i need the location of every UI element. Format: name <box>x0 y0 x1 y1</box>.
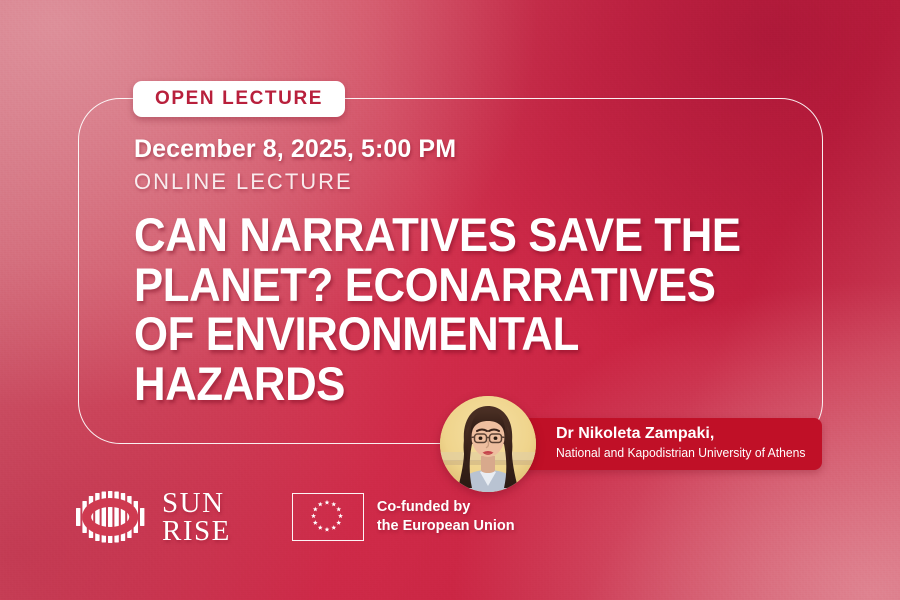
sunrise-wordmark-line2: RISE <box>162 517 231 545</box>
event-datetime: December 8, 2025, 5:00 PM <box>134 136 834 164</box>
speaker-text-group: Dr Nikoleta Zampaki, National and Kapodi… <box>556 424 813 461</box>
eu-cofunded-logo: Co-funded by the European Union <box>292 493 515 541</box>
sunrise-wordmark-line1: SUN <box>162 489 231 517</box>
sunrise-circle-bars-icon <box>74 486 148 548</box>
speaker-avatar <box>440 396 536 492</box>
speaker-name: Dr Nikoleta Zampaki, <box>556 424 813 443</box>
eu-stars-icon <box>293 494 361 538</box>
eu-flag-icon <box>292 493 364 541</box>
sunrise-logo: SUN RISE <box>74 486 231 548</box>
logo-strip: SUN RISE Co-funded by the European Union <box>74 486 515 548</box>
open-lecture-badge: OPEN LECTURE <box>133 81 345 117</box>
eu-cofunded-label: Co-funded by the European Union <box>377 498 515 536</box>
open-lecture-badge-label: OPEN LECTURE <box>155 89 323 108</box>
poster-text-block: December 8, 2025, 5:00 PM ONLINE LECTURE… <box>134 136 834 409</box>
speaker-affiliation: National and Kapodistrian University of … <box>556 446 805 461</box>
speaker-banner: Dr Nikoleta Zampaki, National and Kapodi… <box>500 418 822 470</box>
lecture-poster: OPEN LECTURE December 8, 2025, 5:00 PM O… <box>0 0 900 600</box>
event-format: ONLINE LECTURE <box>134 170 834 194</box>
sunrise-wordmark: SUN RISE <box>162 489 231 546</box>
speaker-portrait-icon <box>440 396 536 492</box>
lecture-title: CAN NARRATIVES SAVE THE PLANET? ECONARRA… <box>134 210 785 409</box>
